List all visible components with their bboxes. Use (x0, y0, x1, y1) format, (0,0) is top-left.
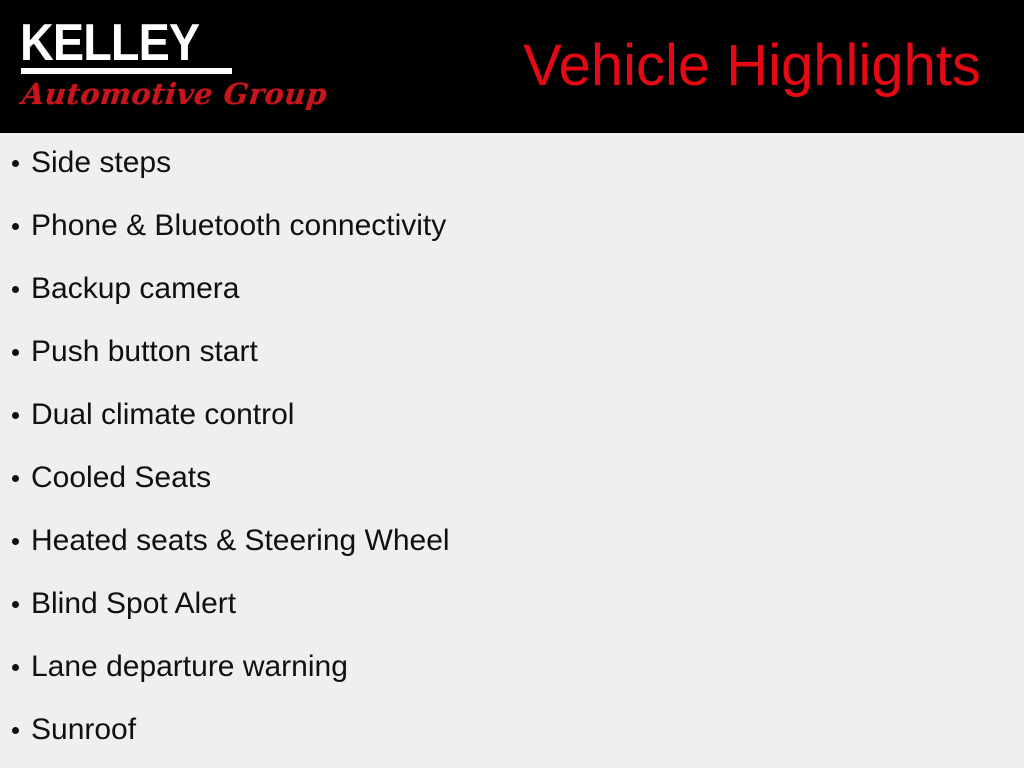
bullet-icon (12, 349, 19, 356)
list-item: Backup camera (0, 263, 1024, 326)
list-item-label: Push button start (31, 326, 258, 378)
slide-canvas: KELLEY Automotive Group Vehicle Highligh… (0, 0, 1024, 768)
kelley-automotive-group-logo: KELLEY Automotive Group (20, 18, 240, 116)
bullet-icon (12, 160, 19, 167)
list-item-label: Side steps (31, 137, 171, 189)
bullet-icon (12, 601, 19, 608)
list-item-label: Heated seats & Steering Wheel (31, 515, 450, 567)
list-item: Lane departure warning (0, 641, 1024, 704)
bullet-icon (12, 475, 19, 482)
list-item-label: Cooled Seats (31, 452, 211, 504)
logo-divider-rule (21, 68, 232, 74)
list-item: Sunroof (0, 704, 1024, 767)
list-item-label: Dual climate control (31, 389, 294, 441)
list-item-label: Phone & Bluetooth connectivity (31, 200, 446, 252)
list-item: Heated seats & Steering Wheel (0, 515, 1024, 578)
list-item-label: Blind Spot Alert (31, 578, 236, 630)
list-item-label: Lane departure warning (31, 641, 348, 693)
bullet-icon (12, 727, 19, 734)
logo-wordmark-kelley: KELLEY (20, 20, 211, 66)
bullet-icon (12, 223, 19, 230)
list-item-label: Sunroof (31, 704, 136, 756)
list-item: Side steps (0, 137, 1024, 200)
header-banner: KELLEY Automotive Group Vehicle Highligh… (0, 0, 1024, 133)
list-item: Dual climate control (0, 389, 1024, 452)
list-item: Cooled Seats (0, 452, 1024, 515)
page-title: Vehicle Highlights (512, 28, 992, 104)
vehicle-highlights-list: Side steps Phone & Bluetooth connectivit… (0, 137, 1024, 767)
list-item: Push button start (0, 326, 1024, 389)
list-item: Blind Spot Alert (0, 578, 1024, 641)
logo-subwordmark-automotive-group: Automotive Group (20, 76, 240, 112)
bullet-icon (12, 664, 19, 671)
list-item: Phone & Bluetooth connectivity (0, 200, 1024, 263)
bullet-icon (12, 286, 19, 293)
bullet-icon (12, 412, 19, 419)
list-item-label: Backup camera (31, 263, 239, 315)
bullet-icon (12, 538, 19, 545)
